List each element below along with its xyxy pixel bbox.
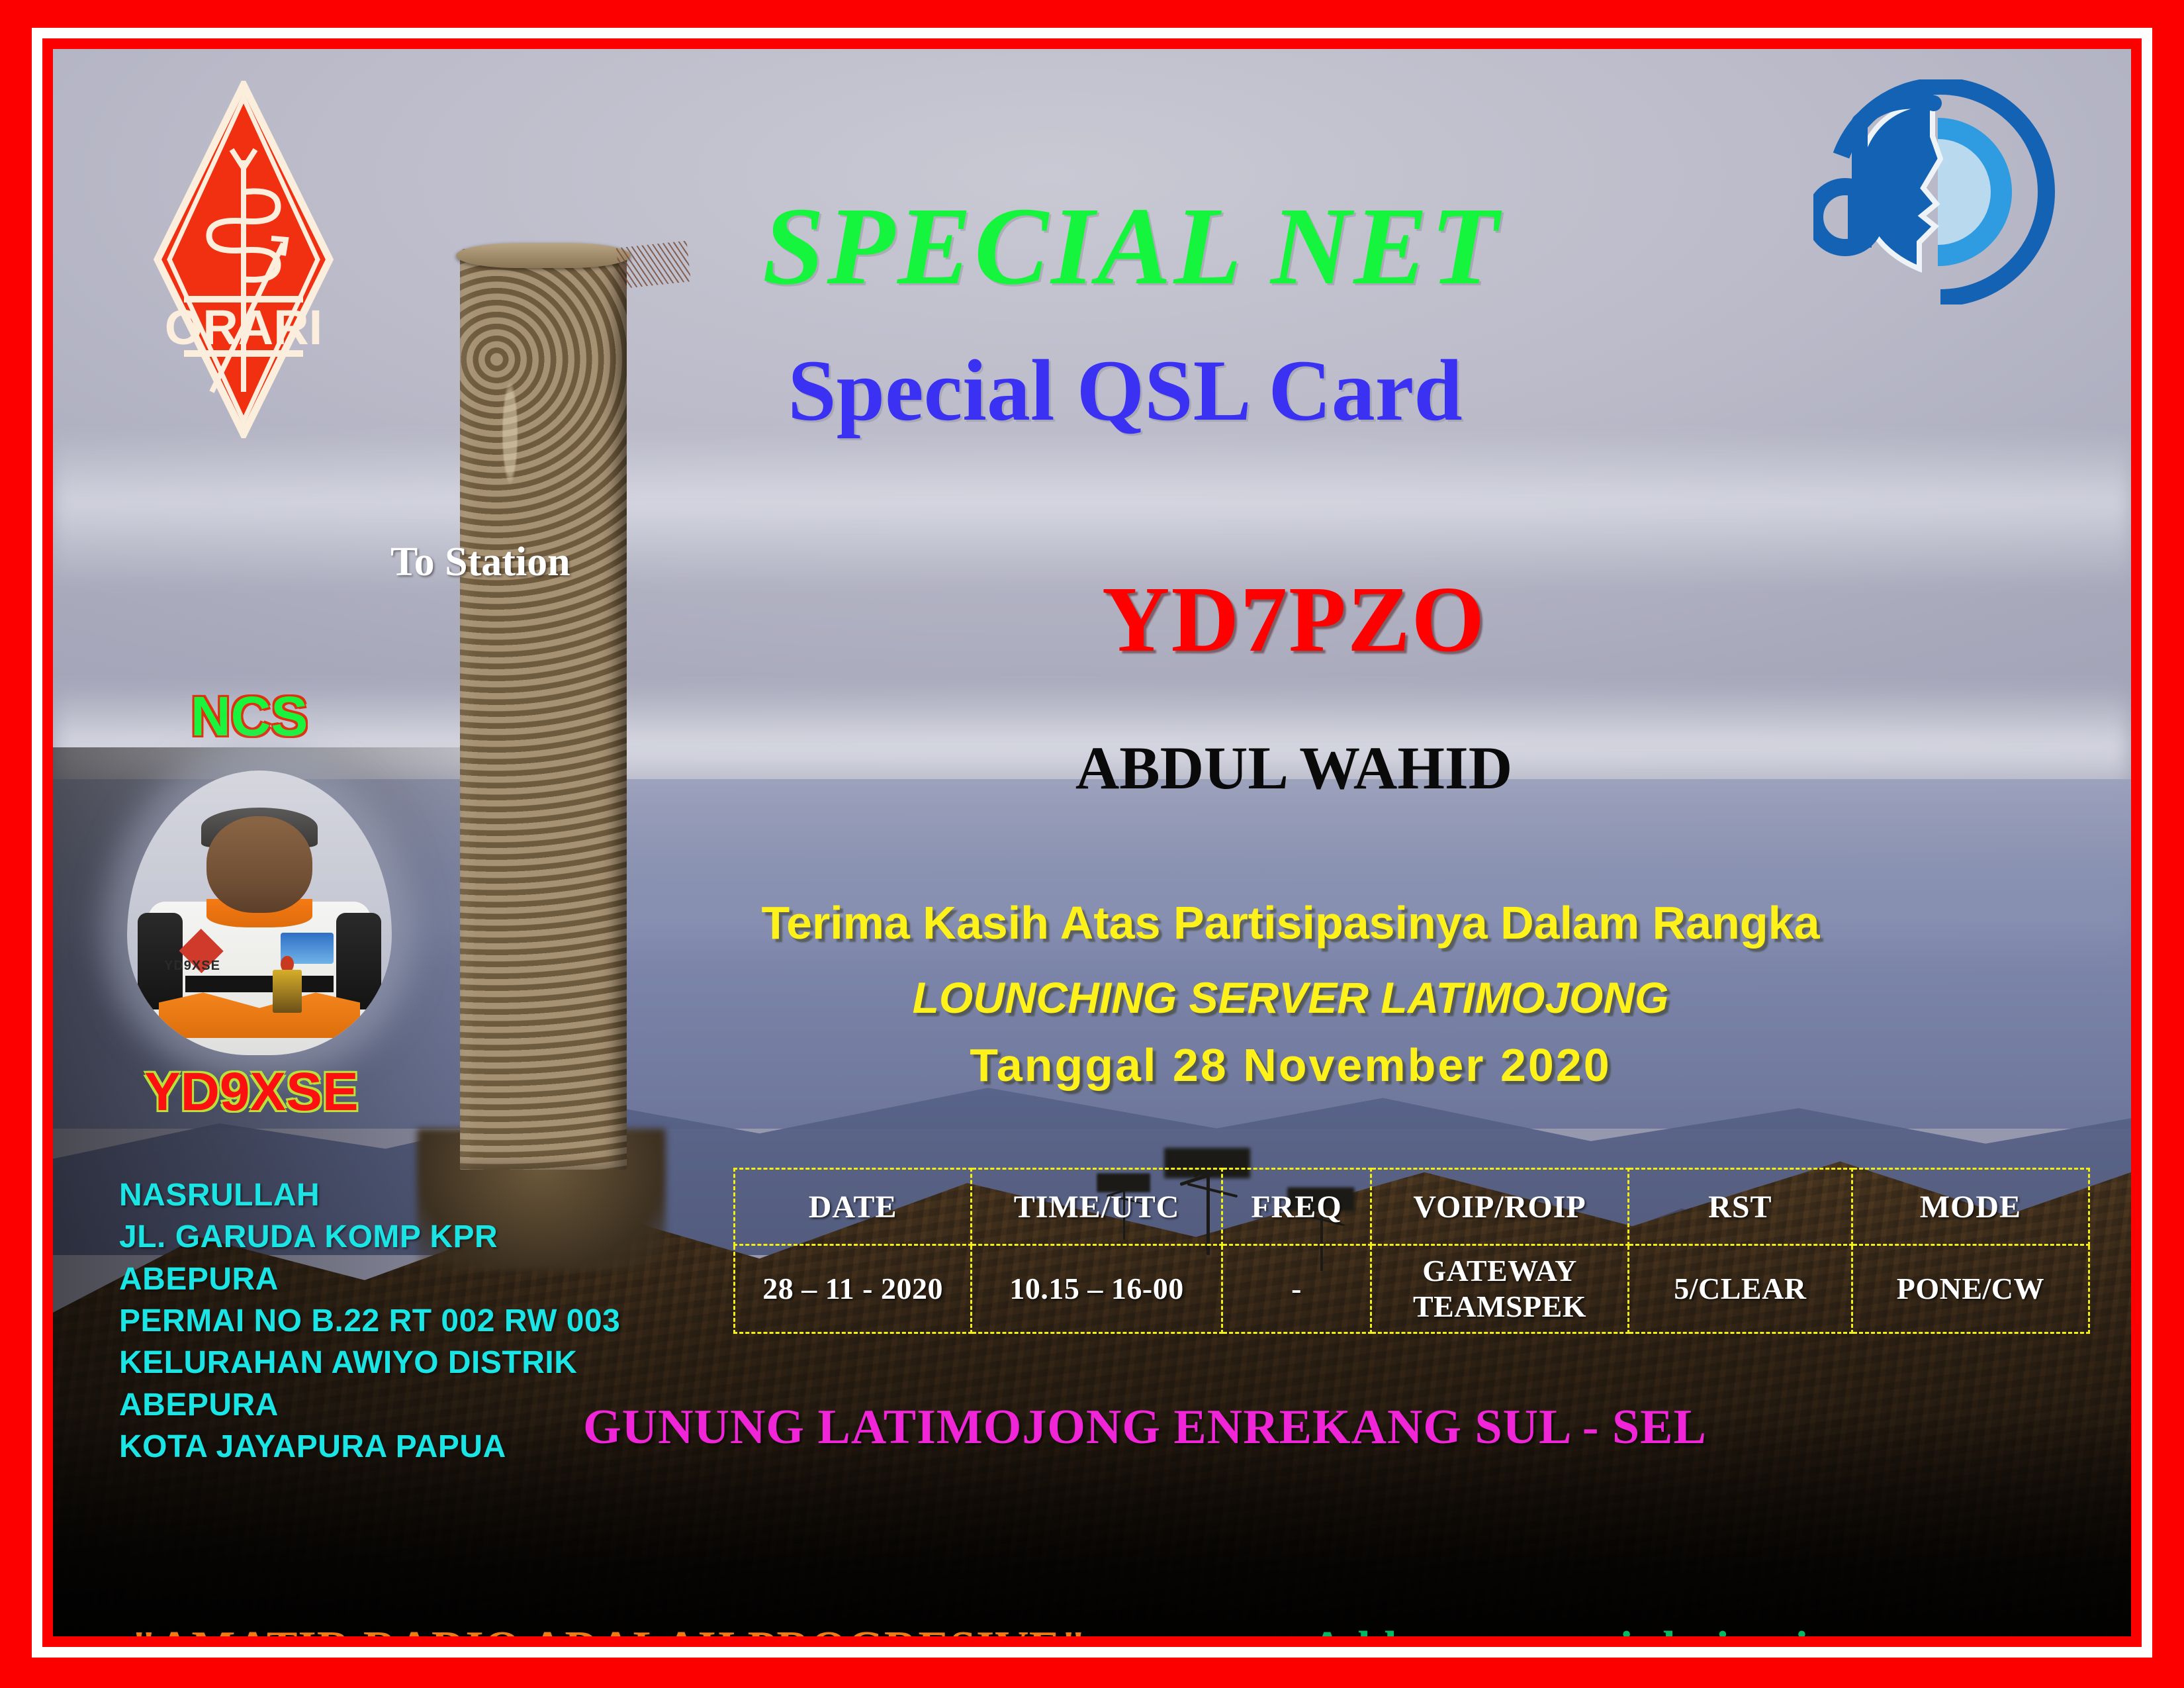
page-subtitle-special-qsl-card: Special QSL Card (53, 347, 2131, 434)
ncs-label: NCS (191, 688, 308, 744)
avatar: YD9XSE (127, 771, 392, 1055)
location-label: GUNUNG LATIMOJONG ENREKANG SUL - SEL (53, 1399, 2131, 1456)
qso-table: DATE TIME/UTC FREQ VOIP/ROIP RST MODE 28… (733, 1168, 2090, 1334)
station-callsign: YD7PZO (53, 572, 2131, 666)
avatar-belt (185, 976, 334, 993)
cell-mode: PONE/CW (1852, 1245, 2089, 1333)
qsl-card: ORARI (0, 0, 2184, 1688)
card-inner-red-border: ORARI (42, 38, 2142, 1647)
cell-time: 10.15 – 16-00 (972, 1245, 1222, 1333)
cell-voip: GATEWAY TEAMSPEK (1371, 1245, 1629, 1333)
table-header-voip: VOIP/ROIP (1371, 1169, 1629, 1245)
cell-date: 28 – 11 - 2020 (735, 1245, 972, 1333)
page-title-special-net: SPECIAL NET (53, 191, 2131, 302)
avatar-id-card (273, 970, 302, 1013)
table-header-freq: FREQ (1222, 1169, 1371, 1245)
content-layer: ORARI (53, 49, 2131, 1636)
table-header-date: DATE (735, 1169, 972, 1245)
address-line: ABEPURA (119, 1258, 620, 1300)
table-header-rst: RST (1628, 1169, 1852, 1245)
ncs-operator-photo: YD9XSE (127, 771, 392, 1055)
address-line: JL. GARUDA KOMP KPR (119, 1216, 620, 1258)
table-header-row: DATE TIME/UTC FREQ VOIP/ROIP RST MODE (735, 1169, 2089, 1245)
footer-slogan: "AMATIR RADIO ADALAH PROGRESIVE" (131, 1622, 1087, 1636)
table-row: 28 – 11 - 2020 10.15 – 16-00 - GATEWAY T… (735, 1245, 2089, 1333)
table-header-time: TIME/UTC (972, 1169, 1222, 1245)
address-line: PERMAI NO B.22 RT 002 RW 003 (119, 1300, 620, 1342)
cell-freq: - (1222, 1245, 1371, 1333)
address-line: NASRULLAH (119, 1174, 620, 1216)
address-line: KELURAHAN AWIYO DISTRIK (119, 1342, 620, 1383)
avatar-face (206, 816, 312, 913)
card-white-gap: ORARI (32, 28, 2152, 1658)
footer-web-address: Address : amatir.latimojong.com (1310, 1622, 1979, 1636)
avatar-shirt-callsign: YD9XSE (164, 959, 220, 974)
ncs-callsign: YD9XSE (144, 1065, 359, 1119)
table-header-mode: MODE (1852, 1169, 2089, 1245)
cell-rst: 5/CLEAR (1628, 1245, 1852, 1333)
card-photo-area: ORARI (53, 49, 2131, 1636)
avatar-sleeve-right (336, 913, 381, 1009)
